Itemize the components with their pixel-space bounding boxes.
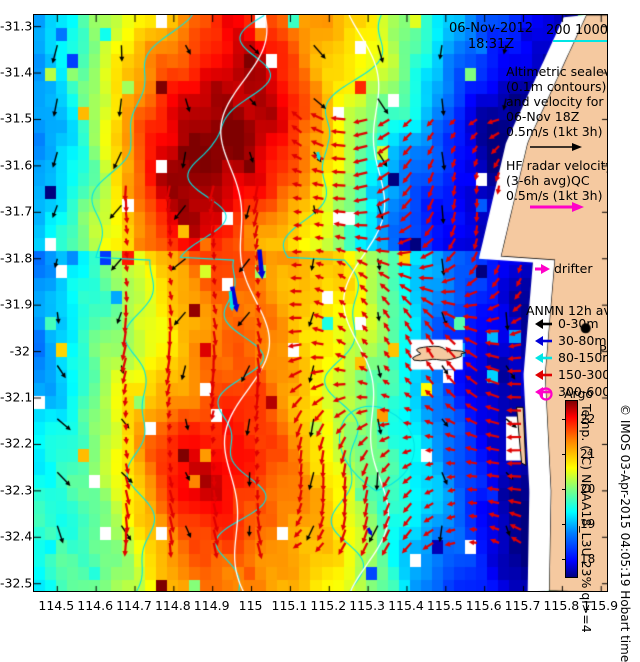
x-tick-label: 115.4	[388, 598, 424, 613]
map-plot-area[interactable]: 06-Nov-2012 18:31Z 200 1000m Altimetric …	[33, 14, 608, 592]
x-tick-label: 114.7	[116, 598, 152, 613]
colorbar-tick-mark	[562, 559, 566, 560]
legend-arrow-icon	[534, 352, 556, 364]
copyright-text: © IMOS 03-Apr-2015 04:05:19 Hobart time	[618, 404, 632, 662]
vector-overlay	[34, 15, 608, 592]
x-tick-label: 115.1	[272, 598, 308, 613]
x-tick-label: 114.6	[77, 598, 113, 613]
y-tick-label: -31.5	[0, 111, 30, 126]
legend-arrow-icon	[534, 335, 556, 347]
y-tick-label: -32.5	[0, 575, 30, 590]
colorbar-tick-mark	[562, 419, 566, 420]
x-tick-label: 115.5	[427, 598, 463, 613]
colorbar	[565, 400, 578, 578]
y-tick-label: -31.4	[0, 65, 30, 80]
argo-icon	[538, 386, 554, 402]
legend-anmn-item: 30-80m	[558, 333, 607, 348]
x-tick-label: 115.6	[466, 598, 502, 613]
y-tick-label: -32.3	[0, 482, 30, 497]
legend-anmn-item: 80-150m	[558, 350, 608, 365]
x-tick-label: 115.3	[349, 598, 385, 613]
legend-arrow-icon	[534, 318, 556, 330]
colorbar-tick-mark	[562, 489, 566, 490]
x-tick-label: 115.8	[543, 598, 579, 613]
y-tick-label: -31.3	[0, 18, 30, 33]
x-tick-label: 114.9	[194, 598, 230, 613]
x-tick-label: 115	[239, 598, 263, 613]
drifter-icon	[534, 262, 552, 276]
x-tick-label: 115.7	[505, 598, 541, 613]
y-tick-label: -31.8	[0, 250, 30, 265]
x-tick-label: 115.2	[310, 598, 346, 613]
y-tick-label: -31.9	[0, 297, 30, 312]
colorbar-tick-mark	[562, 524, 566, 525]
y-tick-label: -31.6	[0, 157, 30, 172]
colorbar-label: Temp. (°C) NOAA18_L3U 23% ql>=4	[579, 404, 594, 633]
y-tick-label: -32.2	[0, 436, 30, 451]
x-tick-label: 114.8	[155, 598, 191, 613]
legend-anmn-item: 150-300m	[558, 367, 608, 382]
colorbar-tick-mark	[562, 454, 566, 455]
legend-anmn-item: 0-30m	[558, 316, 599, 331]
y-tick-label: -32	[0, 343, 30, 358]
legend-anmn-item: 300-600m	[558, 384, 608, 399]
y-tick-label: -32.4	[0, 529, 30, 544]
y-tick-label: -31.7	[0, 204, 30, 219]
legend-arrow-icon	[534, 369, 556, 381]
y-tick-label: -32.1	[0, 390, 30, 405]
x-tick-label: 114.5	[38, 598, 74, 613]
